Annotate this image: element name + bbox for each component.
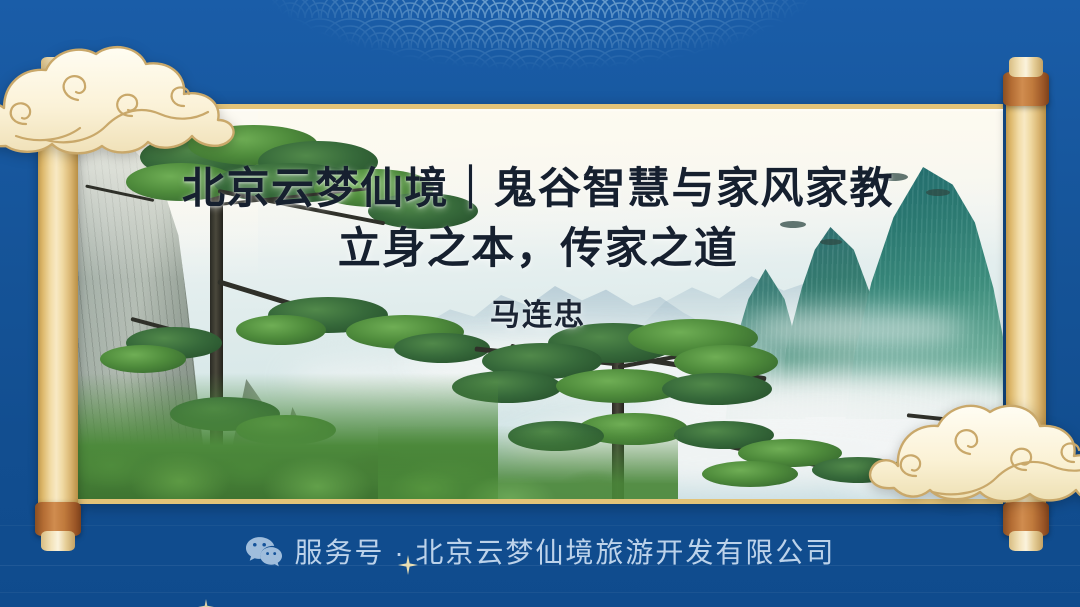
hanging-scroll xyxy=(38,98,1046,510)
official-account-row[interactable]: 服务号 · 北京云梦仙境旅游开发有限公司 xyxy=(0,531,1080,571)
foreground-foliage xyxy=(378,425,678,504)
scroll-finial-top xyxy=(1003,72,1049,106)
ridge-tree-silhouette xyxy=(820,239,842,245)
ridge-tree-silhouette xyxy=(780,221,806,228)
scroll-paper xyxy=(78,104,1003,504)
sparkle-icon xyxy=(198,599,214,607)
poster-canvas: 北京云梦仙境｜鬼谷智慧与家风家教 立身之本，传家之道 马连忠 xyxy=(0,0,1080,607)
seigaiha-wave-pattern xyxy=(200,0,880,108)
pine-tree xyxy=(674,415,894,504)
scroll-rod-left xyxy=(38,98,78,510)
scroll-finial-top xyxy=(35,72,81,106)
scroll-rod-right xyxy=(1006,98,1046,510)
landscape-painting xyxy=(78,104,1003,504)
pine-tree xyxy=(906,409,1003,504)
ridge-tree-silhouette xyxy=(926,189,950,196)
wechat-icon[interactable] xyxy=(245,536,283,567)
official-account-label: 服务号 · 北京云梦仙境旅游开发有限公司 xyxy=(295,531,836,571)
ridge-tree-silhouette xyxy=(878,173,908,181)
footer-bar: 服务号 · 北京云梦仙境旅游开发有限公司 xyxy=(0,511,1080,607)
